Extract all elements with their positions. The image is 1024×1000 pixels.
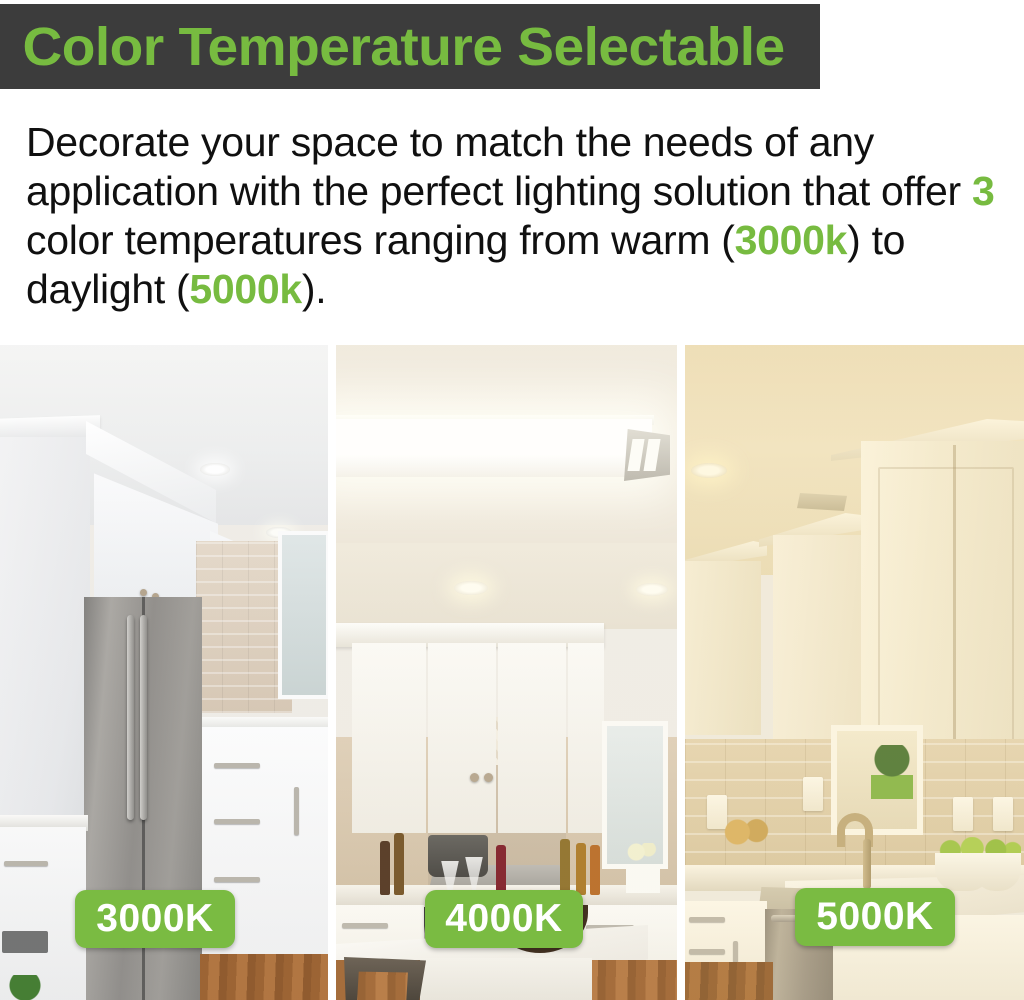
- refrigerator-handle: [127, 615, 134, 820]
- highlight-warm-temperature: 3000k: [735, 217, 848, 263]
- drawer-handle: [689, 917, 725, 922]
- potted-plant: [8, 975, 42, 1000]
- tall-cabinet: [861, 441, 1024, 761]
- cabinet-knob: [484, 773, 493, 782]
- description-paragraph: Decorate your space to match the needs o…: [26, 118, 1001, 314]
- potted-plant: [871, 745, 913, 799]
- panel-divider: [677, 345, 685, 1000]
- appliance-slot: [2, 931, 48, 953]
- description-text-part4: ).: [302, 266, 326, 312]
- drawer-handle: [342, 923, 388, 928]
- page-title: Color Temperature Selectable: [0, 16, 785, 78]
- badge-3000k: 3000K: [75, 890, 235, 948]
- soffit: [336, 543, 677, 629]
- jar: [590, 845, 600, 895]
- highlight-daylight-temperature: 5000k: [189, 266, 302, 312]
- upper-cabinet: [352, 643, 426, 833]
- drawer-handle: [4, 861, 48, 866]
- upper-cabinet: [498, 643, 566, 833]
- cabinet-handle: [294, 787, 299, 835]
- faucet-neck: [863, 839, 871, 889]
- ceiling-air-vent: [797, 493, 847, 511]
- wood-floor: [200, 954, 328, 1000]
- decorative-jars: [723, 815, 771, 849]
- bottle: [394, 833, 404, 895]
- panel-divider: [328, 345, 336, 1000]
- light-switch[interactable]: [803, 777, 823, 811]
- drawer-handle: [214, 877, 260, 882]
- badge-4000k: 4000K: [425, 890, 583, 948]
- wood-floor: [685, 962, 773, 1000]
- bottle: [380, 841, 390, 895]
- led-flush-mount-fixture: [336, 419, 652, 477]
- gooseneck-faucet: [835, 813, 879, 889]
- upper-cabinet: [685, 561, 761, 735]
- fixture-grille-endcap-icon: [624, 429, 670, 481]
- cabinet-edge: [953, 445, 956, 761]
- recessed-downlight-icon: [454, 581, 488, 595]
- upper-cabinet: [428, 643, 496, 833]
- description-text-part2: color temperatures ranging from warm (: [26, 217, 735, 263]
- drawer-handle: [214, 819, 260, 824]
- flower-vase: [626, 843, 660, 893]
- light-switch[interactable]: [953, 797, 973, 831]
- upper-cabinet: [568, 643, 604, 833]
- product-feature-image: Color Temperature Selectable Decorate yo…: [0, 0, 1024, 1000]
- drawer-handle: [214, 763, 260, 768]
- refrigerator-handle: [140, 615, 147, 820]
- window: [278, 531, 328, 699]
- drawer-handle: [689, 949, 725, 954]
- recessed-downlight-icon: [636, 583, 668, 596]
- header-banner: Color Temperature Selectable: [0, 4, 820, 89]
- cabinet-knob: [470, 773, 479, 782]
- recessed-downlight-icon: [691, 463, 727, 478]
- highlight-count: 3: [972, 168, 995, 214]
- island-cabinet: [0, 827, 86, 1000]
- recessed-downlight-icon: [200, 463, 230, 476]
- wall-outlet: [993, 797, 1013, 831]
- badge-5000k: 5000K: [795, 888, 955, 946]
- island-front-panel: [420, 958, 592, 1000]
- cabinet-panel-inset: [878, 467, 1014, 742]
- description-text-part1: Decorate your space to match the needs o…: [26, 119, 972, 214]
- cabinet-knob: [140, 589, 147, 596]
- tall-cabinet: [0, 437, 90, 877]
